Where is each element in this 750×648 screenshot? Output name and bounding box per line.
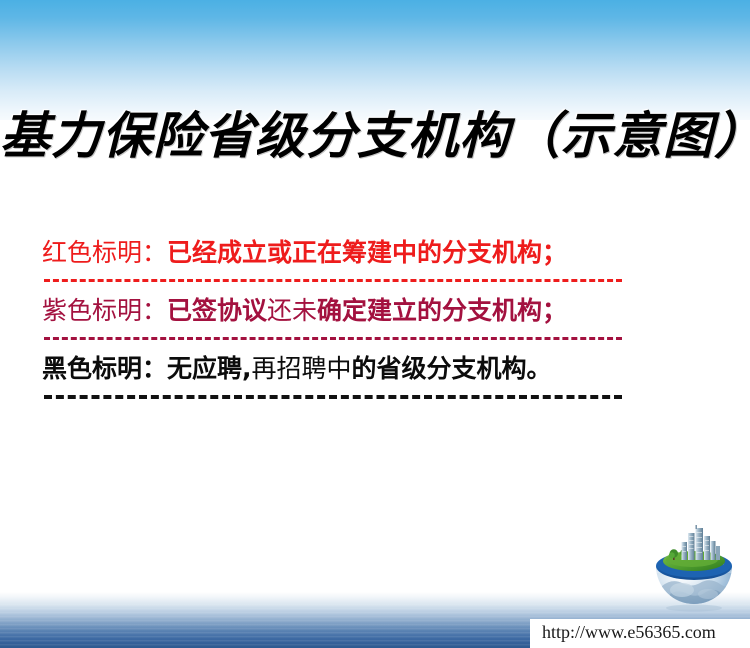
legend-lead-red: 红色标明： <box>42 238 167 267</box>
page-title: 基力保险省级分支机构（示意图） <box>0 96 750 168</box>
watermark-url-plate: http://www.e56365.com <box>530 619 750 648</box>
legend-lead-purple: 紫色标明： <box>42 296 167 325</box>
legend-body-red: 已经成立或正在筹建中的分支机构； <box>167 238 567 267</box>
legend-lead-black: 黑色标明： <box>42 354 167 383</box>
legend-divider-purple <box>44 337 622 340</box>
legend-text-red: 红色标明：已经成立或正在筹建中的分支机构； <box>42 236 682 270</box>
legend-body-purple-strong: 已签协议 <box>167 296 267 325</box>
legend-block: 红色标明：已经成立或正在筹建中的分支机构； 紫色标明：已签协议还未确定建立的分支… <box>42 236 682 411</box>
slide-canvas: 基力保险省级分支机构（示意图） 红色标明：已经成立或正在筹建中的分支机构； 紫色… <box>0 0 750 648</box>
legend-body-purple-tail: 确定建立的分支机构； <box>317 296 567 325</box>
globe-city-logo-icon <box>648 524 740 616</box>
legend-body-black-strong: 无应聘, <box>167 354 252 383</box>
legend-row-red: 红色标明：已经成立或正在筹建中的分支机构； <box>42 236 682 282</box>
legend-text-black: 黑色标明：无应聘,再招聘中的省级分支机构。 <box>42 352 682 386</box>
legend-row-purple: 紫色标明：已签协议还未确定建立的分支机构； <box>42 294 682 340</box>
legend-row-black: 黑色标明：无应聘,再招聘中的省级分支机构。 <box>42 352 682 399</box>
legend-divider-black <box>44 395 622 399</box>
legend-text-purple: 紫色标明：已签协议还未确定建立的分支机构； <box>42 294 682 328</box>
legend-body-black-regular: 再招聘中 <box>252 354 352 383</box>
legend-body-purple-regular: 还未 <box>267 296 317 325</box>
watermark-url: http://www.e56365.com <box>542 622 716 643</box>
legend-divider-red <box>44 279 622 282</box>
legend-body-black-tail: 的省级分支机构。 <box>352 354 552 383</box>
